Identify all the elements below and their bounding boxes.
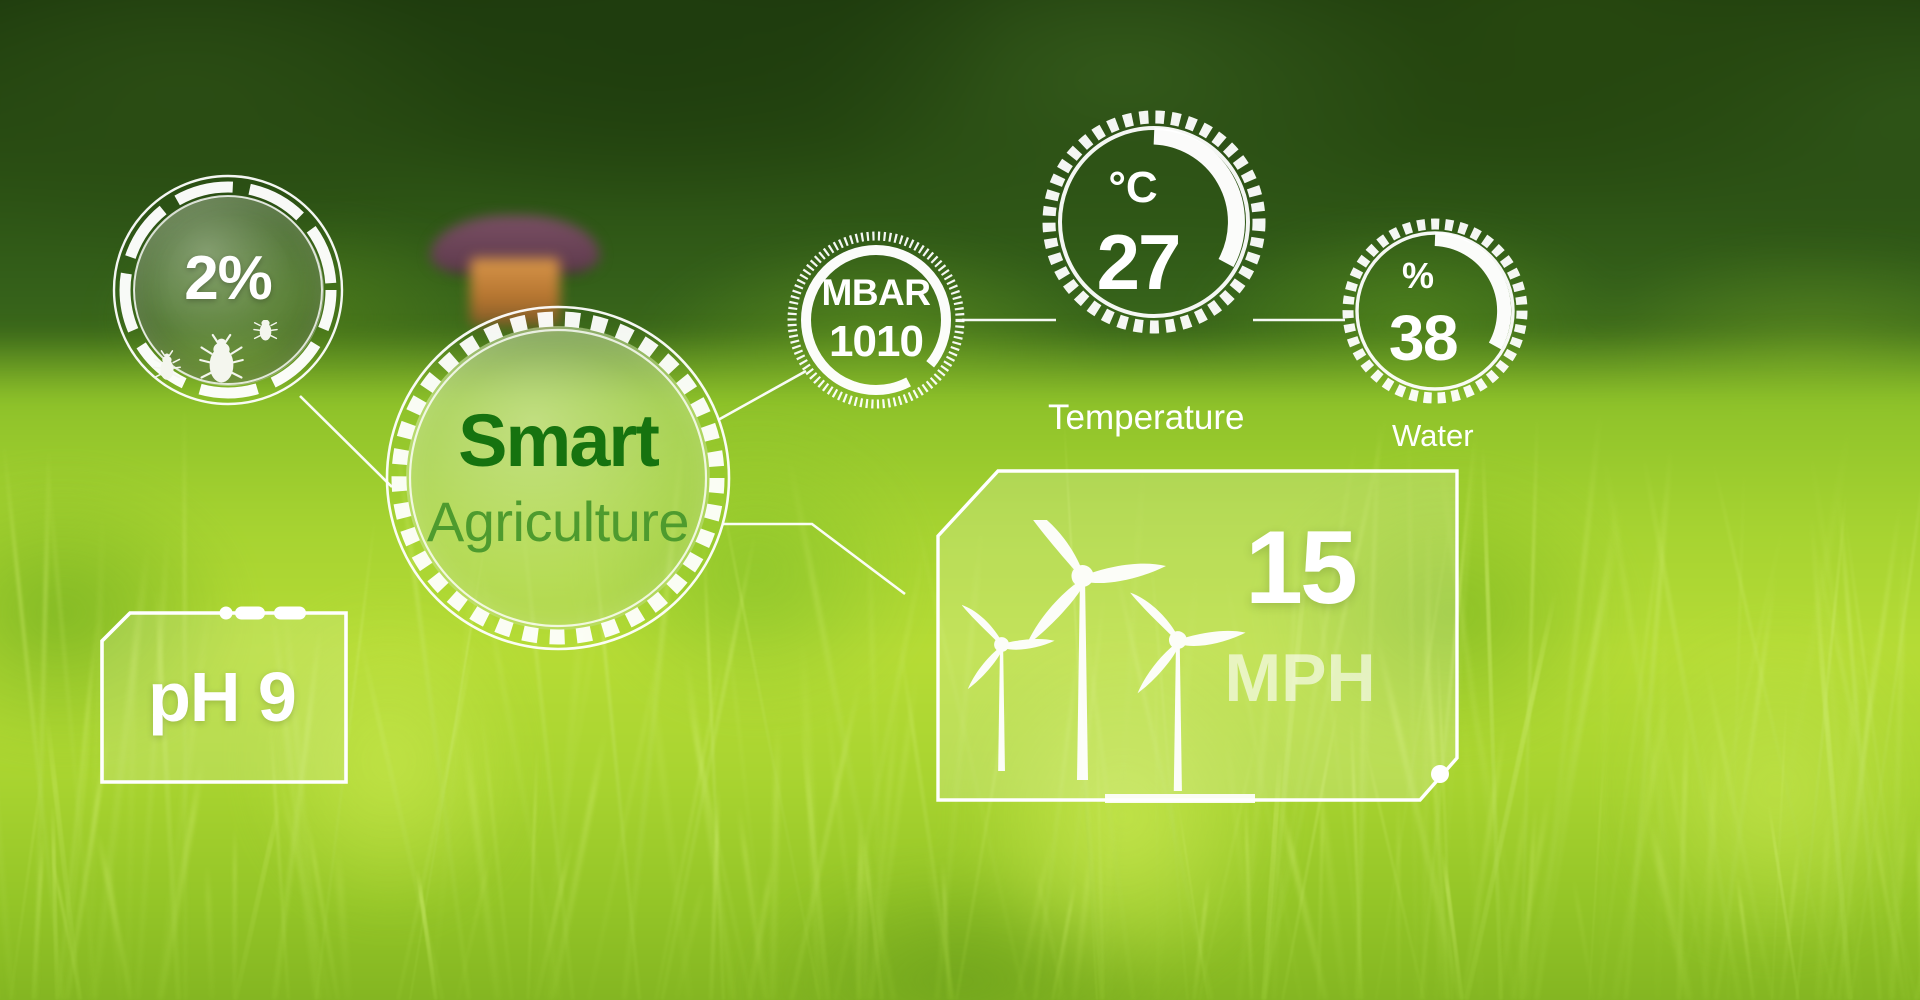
pressure-gauge[interactable]: MBAR 1010 bbox=[784, 228, 968, 412]
wind-panel-indicator-dot bbox=[1431, 765, 1449, 783]
smart-agriculture-badge[interactable]: Smart Agriculture bbox=[380, 300, 736, 656]
temperature-unit: °C bbox=[1040, 166, 1226, 210]
water-gauge[interactable]: % 38 bbox=[1340, 216, 1530, 406]
water-value: 38 bbox=[1340, 306, 1506, 370]
water-label: Water bbox=[1392, 418, 1474, 454]
insect-icon bbox=[152, 320, 312, 400]
pressure-unit: MBAR bbox=[784, 274, 968, 311]
pressure-value: 1010 bbox=[784, 320, 968, 364]
smart-agriculture-hud: 2% bbox=[0, 0, 1920, 1000]
ph-panel[interactable]: pH 9 bbox=[98, 610, 346, 780]
brand-line-1: Smart bbox=[380, 404, 736, 478]
ph-value: pH 9 bbox=[98, 662, 346, 732]
wind-value: 15 bbox=[1180, 516, 1420, 620]
temperature-value: 27 bbox=[1040, 223, 1236, 301]
temperature-label: Temperature bbox=[1048, 398, 1244, 438]
water-unit: % bbox=[1340, 258, 1496, 294]
pest-value: 2% bbox=[108, 248, 348, 310]
pest-level-gauge[interactable]: 2% bbox=[108, 170, 348, 410]
brand-line-2: Agriculture bbox=[380, 494, 736, 550]
hud-overlay: 2% bbox=[0, 0, 1920, 1000]
wind-speed-panel[interactable]: 15 MPH bbox=[900, 468, 1460, 800]
temperature-gauge[interactable]: °C 27 bbox=[1040, 108, 1268, 336]
wind-unit: MPH bbox=[1180, 644, 1420, 712]
